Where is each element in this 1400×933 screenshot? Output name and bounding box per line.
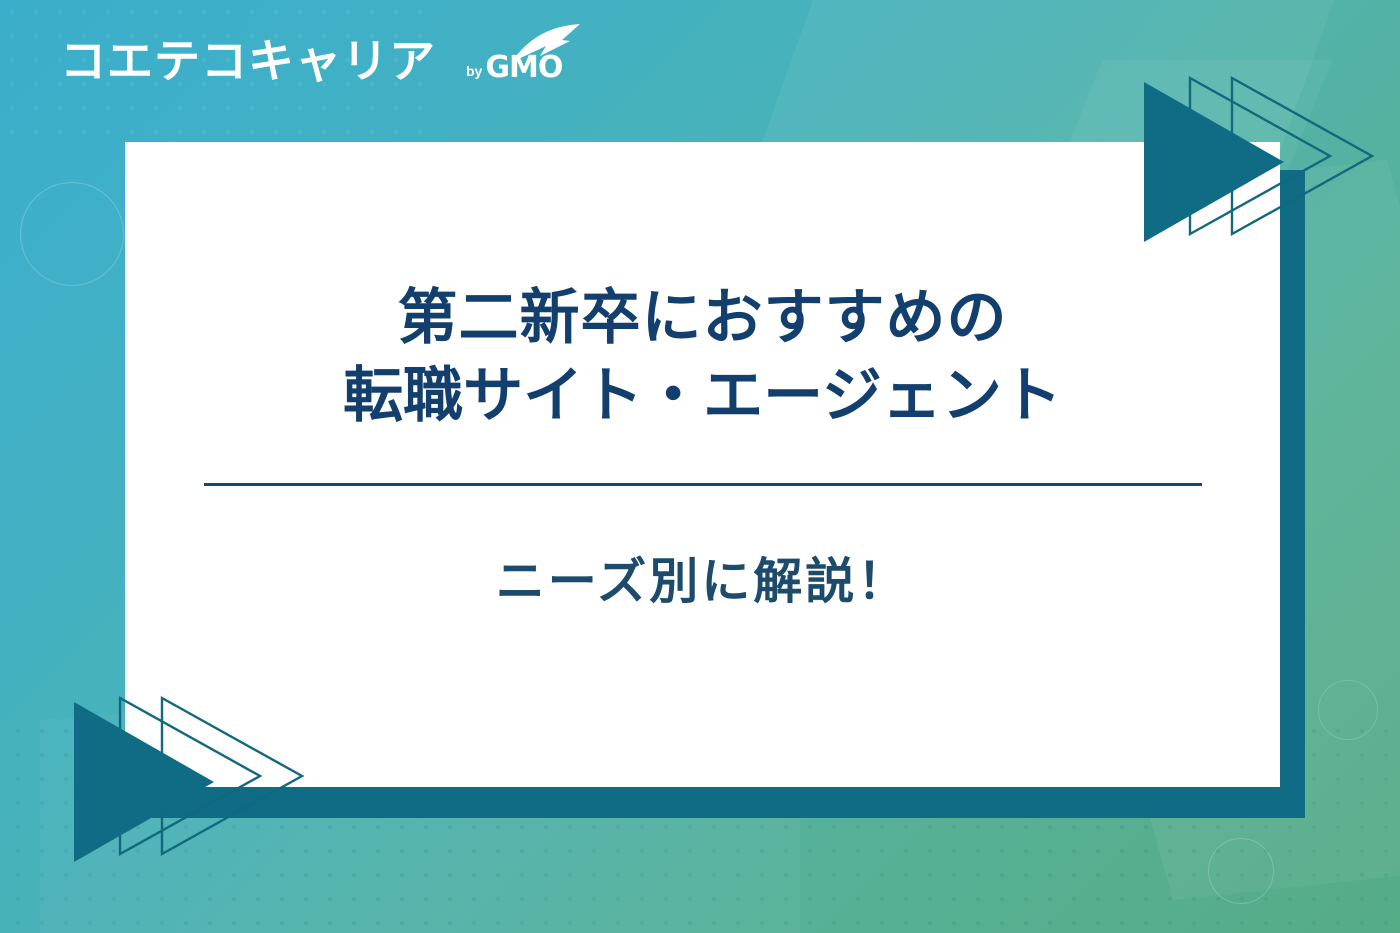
- page-title-line-2: 転職サイト・エージェント: [343, 361, 1062, 431]
- page-subtitle: ニーズ別に解説！: [496, 542, 910, 613]
- decorative-circle-icon: [1208, 838, 1274, 904]
- brand-by-label: by: [466, 63, 482, 79]
- page-title: 第二新卒におすすめの 転職サイト・エージェント: [343, 279, 1062, 435]
- decorative-circle-icon: [20, 182, 124, 286]
- brand-logo-text: コエテコキャリア: [60, 38, 436, 84]
- content-card: 第二新卒におすすめの 転職サイト・エージェント ニーズ別に解説！: [125, 142, 1280, 787]
- title-divider: [204, 483, 1202, 486]
- page-title-line-1: 第二新卒におすすめの: [398, 283, 1008, 353]
- arrow-swoosh-icon: [510, 22, 584, 66]
- brand-logo[interactable]: コエテコキャリア by GMO: [60, 38, 562, 84]
- poster-canvas: コエテコキャリア by GMO 第二新卒におすすめの 転職サイト・エージェント …: [0, 0, 1400, 933]
- decorative-circle-icon: [1318, 680, 1378, 740]
